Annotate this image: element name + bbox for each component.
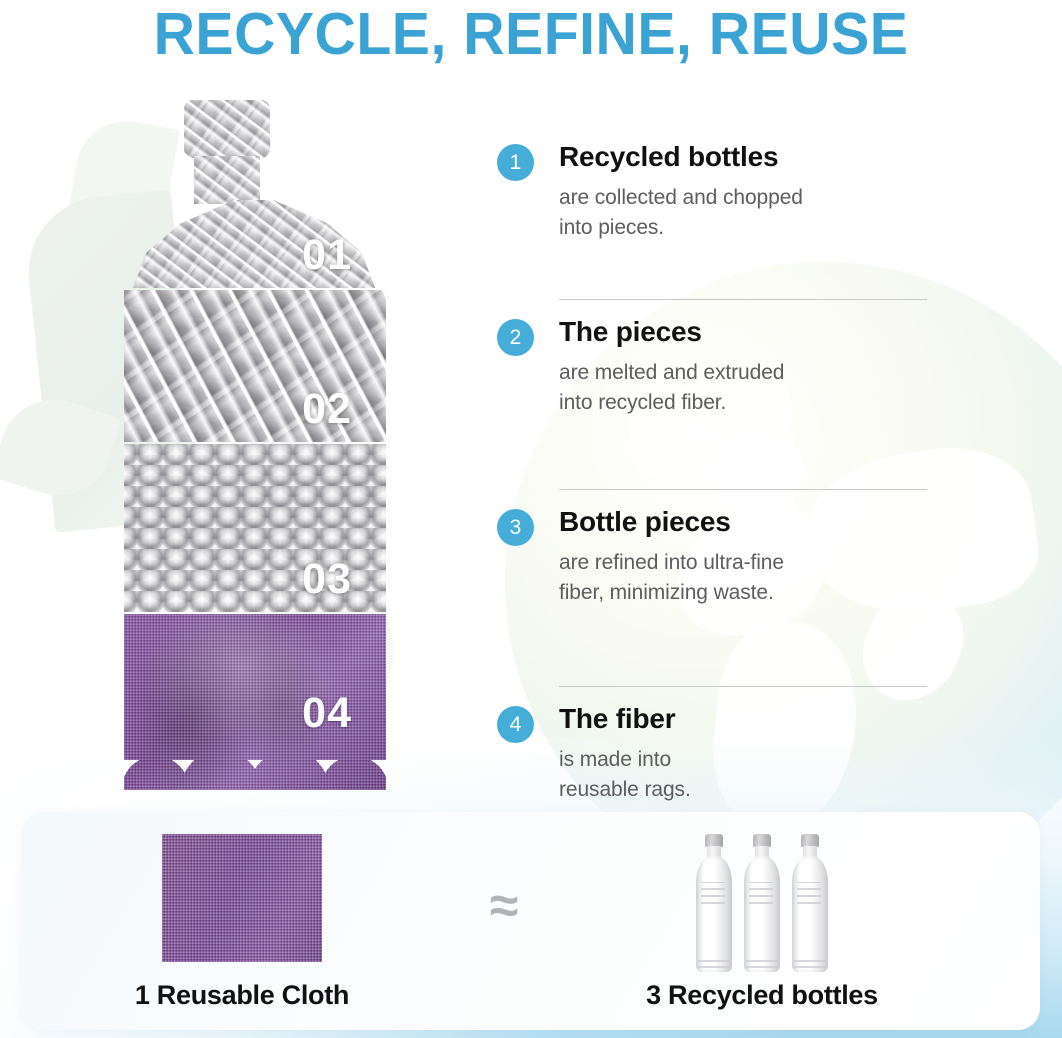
- mini-bottle-2: [742, 834, 782, 972]
- bottle-cap-region: [184, 100, 270, 158]
- mini-bottle-1: [694, 834, 734, 972]
- bottle-body: [696, 856, 732, 972]
- mini-bottle-3: [790, 834, 830, 972]
- step-number-badge: 2: [497, 319, 534, 356]
- step-title: Recycled bottles: [559, 140, 927, 174]
- bottle-neck-region: [194, 156, 260, 204]
- step-description: are refined into ultra-fine fiber, minim…: [559, 548, 927, 608]
- step-number-badge: 4: [497, 706, 534, 743]
- leaf-watermark-small: [0, 386, 122, 510]
- bottle-body: [744, 856, 780, 972]
- comparison-card: 1 Reusable Cloth ≈: [22, 812, 1040, 1030]
- step-description: are collected and chopped into pieces.: [559, 183, 927, 243]
- bottle-band-04: 04: [124, 614, 386, 790]
- bottle-base-ridges: [794, 960, 826, 968]
- bottle-label-rings: [701, 882, 725, 904]
- cloth-swatch-texture: [162, 834, 322, 962]
- band-number-label: 02: [302, 385, 352, 434]
- bottle-label-rings: [749, 882, 773, 904]
- pet-flake-texture: [194, 156, 260, 204]
- bottle-band-02: 02: [124, 290, 386, 442]
- bottle-base-ridges: [698, 960, 730, 968]
- approximately-equal-icon: ≈: [474, 878, 534, 934]
- infographic-poster: RECYCLE, REFINE, REUSE 01 02 03: [0, 0, 1062, 1038]
- bottle-body: [792, 856, 828, 972]
- step-description: is made into reusable rags.: [559, 745, 927, 805]
- bottle-label-rings: [797, 882, 821, 904]
- step-title: Bottle pieces: [559, 505, 927, 539]
- comparison-left-label: 1 Reusable Cloth: [122, 980, 362, 1011]
- step-item-1: 1 Recycled bottles are collected and cho…: [497, 140, 927, 300]
- steps-list: 1 Recycled bottles are collected and cho…: [497, 140, 927, 884]
- step-number-badge: 1: [497, 144, 534, 181]
- step-description: are melted and extruded into recycled fi…: [559, 358, 927, 418]
- bottle-diagram: 01 02 03 04: [124, 100, 386, 790]
- bottle-band-03: 03: [124, 444, 386, 612]
- step-item-2: 2 The pieces are melted and extruded int…: [497, 300, 927, 490]
- comparison-right-label: 3 Recycled bottles: [612, 980, 912, 1011]
- step-item-3: 3 Bottle pieces are refined into ultra-f…: [497, 490, 927, 687]
- bottle-base-ridges: [746, 960, 778, 968]
- band-number-label: 01: [302, 231, 352, 280]
- step-title: The fiber: [559, 702, 927, 736]
- band-number-label: 03: [302, 555, 352, 604]
- pet-flake-texture: [184, 100, 270, 158]
- step-number-badge: 3: [497, 509, 534, 546]
- bottle-band-01: 01: [124, 100, 386, 288]
- recycled-bottles-group: [694, 826, 844, 972]
- page-title: RECYCLE, REFINE, REUSE: [16, 2, 1046, 66]
- step-title: The pieces: [559, 315, 927, 349]
- cloth-swatch: [162, 834, 322, 962]
- band-number-label: 04: [302, 689, 352, 738]
